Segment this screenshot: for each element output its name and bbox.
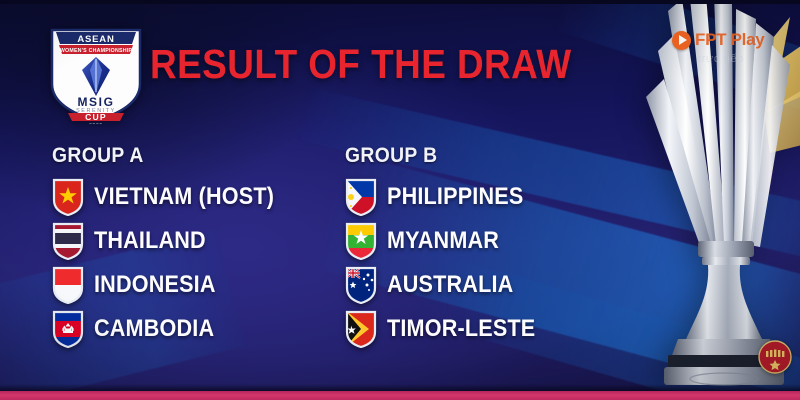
team-name: CAMBODIA xyxy=(94,315,214,343)
list-item: CAMBODIA xyxy=(52,310,294,347)
team-name: PHILIPPINES xyxy=(387,183,523,211)
list-item: INDONESIA xyxy=(52,266,294,303)
list-item: AUSTRALIA xyxy=(345,266,552,303)
flag-australia-shield-icon xyxy=(345,266,377,304)
flag-philippines-shield-icon xyxy=(345,178,377,216)
list-item: TIMOR-LESTE xyxy=(345,310,552,347)
group-b-team-list: PHILIPPINES MYANMAR xyxy=(345,178,552,347)
flag-cambodia-shield-icon xyxy=(52,310,84,348)
watermark-subtitle: trực tiếp xyxy=(698,53,794,65)
logo-arc-text: ASEAN xyxy=(77,34,114,45)
logo-subtitle: WOMEN'S CHAMPIONSHIP xyxy=(60,48,133,54)
flag-vietnam-shield-icon xyxy=(52,178,84,216)
logo-cup-word: CUP xyxy=(85,112,107,122)
flag-timor-leste-shield-icon xyxy=(345,310,377,348)
team-name: AUSTRALIA xyxy=(387,271,513,299)
group-b-heading: GROUP B xyxy=(345,144,535,168)
list-item: VIETNAM (HOST) xyxy=(52,178,294,215)
group-a-team-list: VIETNAM (HOST) xyxy=(52,178,294,347)
flag-indonesia-shield-icon xyxy=(52,266,84,304)
logo-year: 2025 xyxy=(89,122,103,124)
bottom-accent-bar xyxy=(0,391,800,400)
tournament-logo: ASEAN WOMEN'S CHAMPIONSHIP MSIG SERENITY… xyxy=(44,14,148,124)
play-circle-icon xyxy=(672,31,691,50)
list-item: THAILAND xyxy=(52,222,294,259)
team-name: INDONESIA xyxy=(94,271,216,299)
page-title: RESULT OF THE DRAW xyxy=(150,44,571,85)
round-emblem-icon xyxy=(758,340,792,374)
group-a-block: GROUP A VIETNAM (HOST) xyxy=(52,144,294,347)
list-item: MYANMAR xyxy=(345,222,552,259)
team-name: VIETNAM (HOST) xyxy=(94,183,274,211)
group-a-heading: GROUP A xyxy=(52,144,275,168)
broadcast-graphic-stage: ASEAN WOMEN'S CHAMPIONSHIP MSIG SERENITY… xyxy=(0,0,800,400)
flag-myanmar-shield-icon xyxy=(345,222,377,260)
list-item: PHILIPPINES xyxy=(345,178,552,215)
team-name: MYANMAR xyxy=(387,227,499,255)
fpt-play-watermark: FPT Play trực tiếp xyxy=(672,30,794,65)
team-name: TIMOR-LESTE xyxy=(387,315,535,343)
bottom-bar-shadow xyxy=(0,384,800,391)
watermark-row: FPT Play xyxy=(672,30,794,50)
team-name: THAILAND xyxy=(94,227,206,255)
flag-thailand-shield-icon xyxy=(52,222,84,260)
watermark-brand: FPT Play xyxy=(695,30,764,50)
logo-brand: MSIG xyxy=(77,95,114,109)
group-b-block: GROUP B xyxy=(345,144,552,347)
top-edge-line xyxy=(0,0,800,4)
